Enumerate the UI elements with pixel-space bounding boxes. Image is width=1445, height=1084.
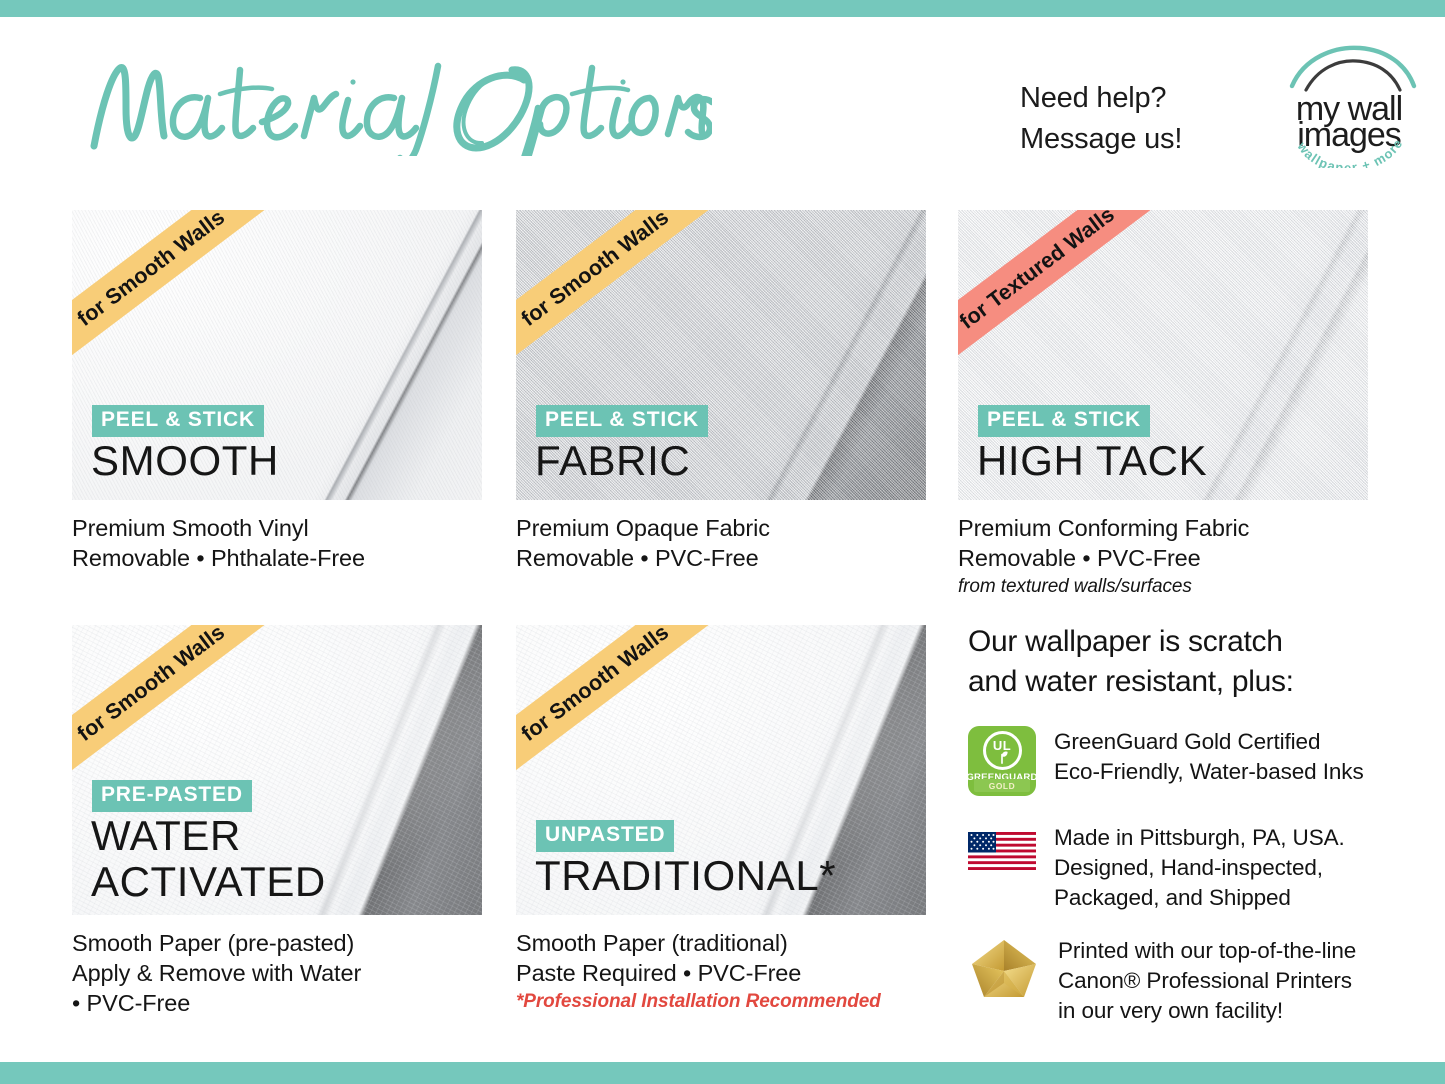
feature-made-in-usa: Made in Pittsburgh, PA, USA. Designed, H… [968,822,1345,913]
material-name: TRADITIONAL* [535,853,836,899]
need-help-text: Need help? Message us! [1020,78,1250,160]
material-description: Premium Conforming Fabric Removable • PV… [958,513,1368,599]
material-description: Smooth Paper (traditional) Paste Require… [516,928,926,1014]
material-card-traditional[interactable]: for Smooth Walls UNPASTED TRADITIONAL* S… [516,625,926,1014]
desc-line-1: Premium Smooth Vinyl [72,513,482,543]
features-heading-line1: Our wallpaper is scratch [968,622,1388,662]
material-photo: for Smooth Walls PRE-PASTED WATER ACTIVA… [72,625,482,915]
material-card-high-tack[interactable]: for Textured Walls PEEL & STICK HIGH TAC… [958,210,1368,599]
feature-canon-printers: Printed with our top-of-the-line Canon® … [968,935,1356,1026]
material-name: HIGH TACK [977,438,1207,484]
ul-mark-icon: UL [983,731,1022,770]
desc-note: *Professional Installation Recommended [516,989,926,1014]
need-help-line2: Message us! [1020,119,1250,160]
page-title [72,46,712,156]
desc-note: from textured walls/surfaces [958,574,1368,599]
feature-line-1: Made in Pittsburgh, PA, USA. [1054,823,1345,853]
desc-line-2: Removable • PVC-Free [516,543,926,573]
feature-text: Printed with our top-of-the-line Canon® … [1058,935,1356,1026]
gold-label: GOLD [974,779,1030,792]
leaf-icon [995,749,1010,764]
material-name: FABRIC [535,438,690,484]
features-heading-line2: and water resistant, plus: [968,662,1388,702]
material-photo: for Smooth Walls PEEL & STICK FABRIC [516,210,926,500]
need-help-line1: Need help? [1020,78,1250,119]
desc-line-2: Removable • Phthalate-Free [72,543,482,573]
desc-line-1: Premium Opaque Fabric [516,513,926,543]
adhesive-badge: PEEL & STICK [536,405,708,437]
features-heading: Our wallpaper is scratch and water resis… [968,622,1388,702]
feature-line-1: Printed with our top-of-the-line [1058,936,1356,966]
desc-line-2: Apply & Remove with Water [72,958,482,988]
feature-line-3: in our very own facility! [1058,996,1356,1026]
adhesive-badge: PEEL & STICK [978,405,1150,437]
top-accent-bar [0,0,1445,17]
feature-line-2: Designed, Hand-inspected, [1054,853,1345,883]
material-description: Smooth Paper (pre-pasted) Apply & Remove… [72,928,482,1018]
brand-logo: my wall images wallpaper + more [1276,42,1422,168]
desc-line-1: Smooth Paper (pre-pasted) [72,928,482,958]
material-options-infographic: Need help? Message us! my wall images wa… [0,0,1445,1084]
material-photo: for Smooth Walls PEEL & STICK SMOOTH [72,210,482,500]
material-name: WATER ACTIVATED [91,813,326,905]
feature-greenguard: UL GREENGUARD GOLD GreenGuard Gold Certi… [968,726,1364,796]
bottom-accent-bar [0,1062,1445,1084]
material-name-line2: ACTIVATED [91,859,326,905]
material-description: Premium Smooth Vinyl Removable • Phthala… [72,513,482,573]
usa-flag-icon [968,832,1036,870]
desc-line-1: Premium Conforming Fabric [958,513,1368,543]
material-card-water-activated[interactable]: for Smooth Walls PRE-PASTED WATER ACTIVA… [72,625,482,1018]
material-description: Premium Opaque Fabric Removable • PVC-Fr… [516,513,926,573]
material-card-smooth[interactable]: for Smooth Walls PEEL & STICK SMOOTH Pre… [72,210,482,573]
material-name-line1: WATER [91,813,326,859]
material-photo: for Smooth Walls UNPASTED TRADITIONAL* [516,625,926,915]
material-photo: for Textured Walls PEEL & STICK HIGH TAC… [958,210,1368,500]
feature-line-2: Eco-Friendly, Water-based Inks [1054,757,1364,787]
feature-line-2: Canon® Professional Printers [1058,966,1356,996]
feature-line-1: GreenGuard Gold Certified [1054,727,1364,757]
material-name: SMOOTH [91,438,279,484]
greenguard-gold-badge-icon: UL GREENGUARD GOLD [968,726,1036,796]
feature-line-3: Packaged, and Shipped [1054,883,1345,913]
desc-line-3: • PVC-Free [72,988,482,1018]
gold-star-icon [968,937,1040,1007]
feature-text: Made in Pittsburgh, PA, USA. Designed, H… [1054,822,1345,913]
adhesive-badge: PEEL & STICK [92,405,264,437]
adhesive-badge: UNPASTED [536,820,674,852]
desc-line-1: Smooth Paper (traditional) [516,928,926,958]
material-card-fabric[interactable]: for Smooth Walls PEEL & STICK FABRIC Pre… [516,210,926,573]
desc-line-2: Paste Required • PVC-Free [516,958,926,988]
desc-line-2: Removable • PVC-Free [958,543,1368,573]
adhesive-badge: PRE-PASTED [92,780,252,812]
feature-text: GreenGuard Gold Certified Eco-Friendly, … [1054,726,1364,787]
